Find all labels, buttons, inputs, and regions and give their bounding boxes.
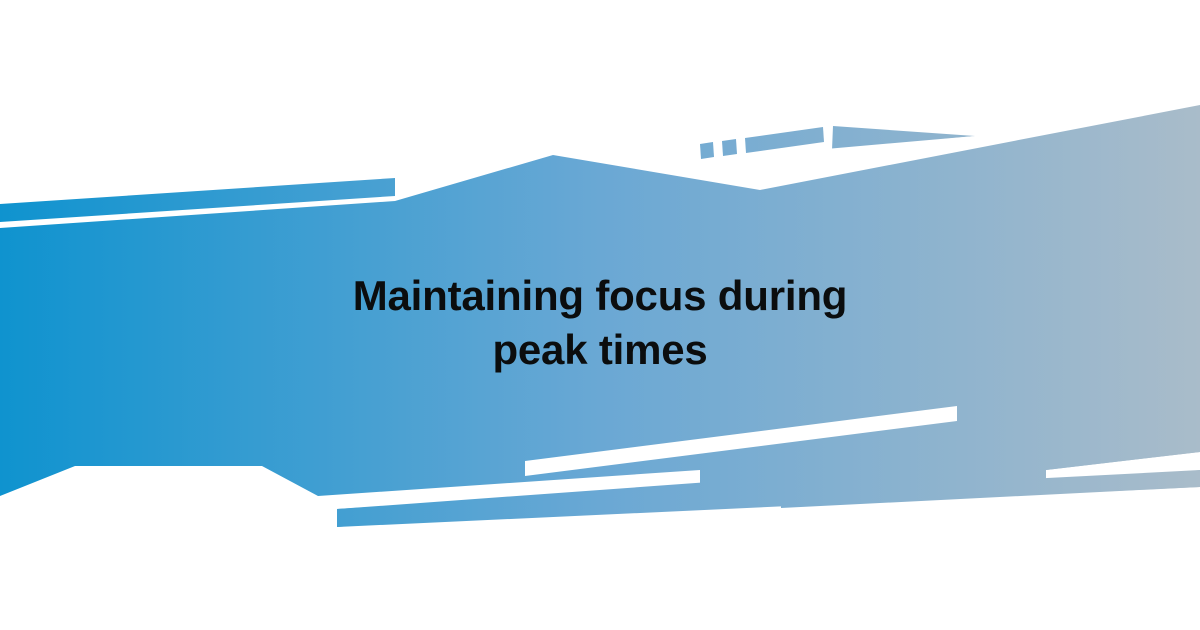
dash-mark-small-2: [722, 139, 737, 156]
banner-card: Maintaining focus during peak times: [0, 0, 1200, 630]
dash-mark-small-1: [700, 142, 714, 159]
decorative-background-graphic: [0, 0, 1200, 630]
dash-mark-medium: [745, 127, 824, 153]
